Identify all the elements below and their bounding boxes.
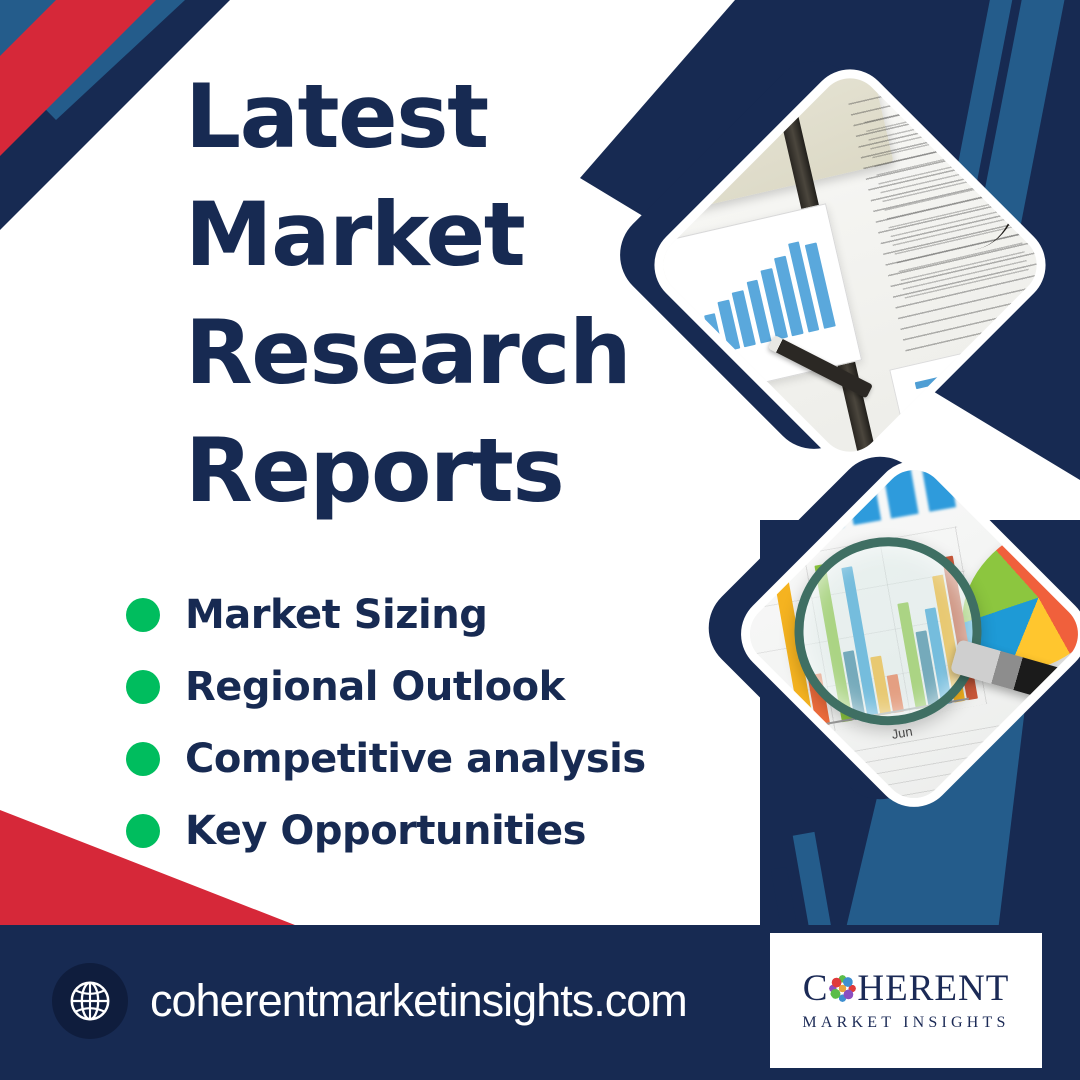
green-dot-icon (126, 598, 160, 632)
logo-tagline: MARKET INSIGHTS (802, 1014, 1009, 1032)
bullet-label-regional-outlook: Regional Outlook (185, 664, 565, 710)
bullet-label-key-opportunities: Key Opportunities (185, 808, 586, 854)
title-line-2: Market (185, 176, 705, 294)
bullet-label-market-sizing: Market Sizing (185, 592, 487, 638)
title-line-4: Reports (185, 412, 705, 530)
list-item: Key Opportunities (126, 808, 746, 854)
list-item: Competitive analysis (126, 736, 746, 782)
magnifier-charts-photo: May Jun 375.00 (727, 447, 1080, 822)
green-dot-icon (126, 742, 160, 776)
logo-word-herent: HERENT (857, 970, 1009, 1007)
multicolor-globe-icon (829, 975, 856, 1002)
brand-logo[interactable]: C HERENT MARKET INSIGHTS (770, 933, 1042, 1068)
logo-letter-c: C (803, 970, 829, 1007)
globe-icon (52, 963, 128, 1039)
logo-wordmark: C HERENT (803, 970, 1010, 1007)
chart-label-jun: Jun (890, 722, 913, 740)
bullet-label-competitive-analysis: Competitive analysis (185, 736, 646, 782)
green-dot-icon (126, 814, 160, 848)
green-dot-icon (126, 670, 160, 704)
title-line-1: Latest (185, 58, 705, 176)
page-title: Latest Market Research Reports (185, 58, 705, 530)
magnifying-glass-lens-icon (794, 537, 982, 725)
title-line-3: Research (185, 294, 705, 412)
list-item: Regional Outlook (126, 664, 746, 710)
diamond-photo-financial-reports (700, 115, 1000, 415)
diamond-photo-magnifier-charts: May Jun 375.00 (780, 500, 1048, 768)
list-item: Market Sizing (126, 592, 746, 638)
feature-bullet-list: Market Sizing Regional Outlook Competiti… (126, 592, 746, 880)
website-url[interactable]: coherentmarketinsights.com (150, 975, 687, 1027)
poster-canvas: May Jun 375.00 Latest Market Research Re… (0, 0, 1080, 1080)
diamond-inner-bottom: May Jun 375.00 (727, 447, 1080, 822)
